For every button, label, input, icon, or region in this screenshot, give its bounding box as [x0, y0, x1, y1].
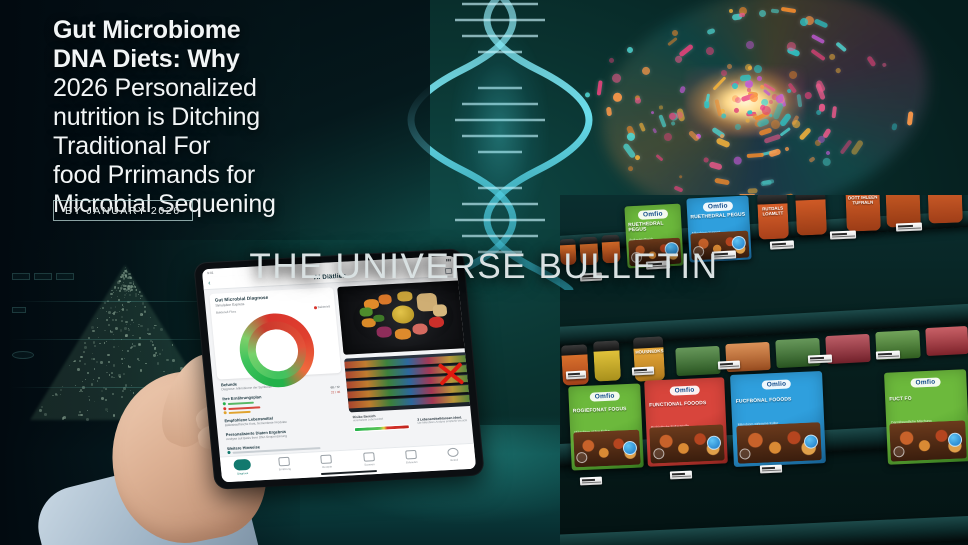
product-package[interactable]: OmfioFUNCTIONAL FOOODSProbiotische Balla… [644, 377, 728, 466]
product-jar[interactable] [927, 195, 963, 224]
pyramid-particle [152, 344, 154, 346]
nav-label: Rezepte [308, 464, 346, 469]
pyramid-particle [108, 324, 110, 326]
headline-line: DNA Diets: Why [53, 45, 413, 74]
product-brand: Omlio [762, 380, 792, 390]
article-headline: Gut Microbiome DNA Diets: Why 2026 Perso… [53, 16, 413, 219]
pyramid-particle [118, 346, 119, 347]
pyramid-particle [87, 410, 88, 411]
pyramid-particle [113, 414, 116, 417]
legend-right: Bakteriell [314, 304, 331, 309]
microbe-particle [753, 65, 761, 73]
pyramid-particle [153, 354, 155, 356]
product-tray[interactable] [925, 326, 968, 356]
risk-progress-bar [354, 424, 410, 432]
dna-glow [430, 0, 570, 280]
legend-color-swatch [314, 306, 317, 309]
microbe-particle [606, 107, 613, 116]
pyramid-particle [123, 373, 125, 375]
pyramid-particle [98, 337, 99, 338]
microbe-particle [729, 9, 734, 14]
pyramid-particle [94, 345, 96, 347]
pyramid-particle [154, 347, 156, 349]
pyramid-particle [100, 361, 102, 363]
food-icon [279, 351, 286, 356]
pyramid-particle [91, 326, 94, 329]
product-brand: Omfio [590, 391, 620, 401]
shelf-price-tag [670, 471, 692, 480]
pyramid-particle [129, 294, 131, 296]
jar-body [593, 350, 621, 382]
pyramid-particle [117, 296, 118, 297]
legend-label: Bakteriell [317, 304, 330, 309]
product-package[interactable]: OmlioFUCFBONAL FOOODSMikrobiom wirksame … [730, 371, 826, 467]
nav-item-diagnose[interactable]: Diagnose [222, 458, 262, 475]
microbe-particle [748, 187, 758, 193]
food-icon [267, 351, 274, 356]
pyramid-particle [97, 327, 98, 328]
product-package[interactable]: OmfioROGIEFONAT FOGUSMikrobiom aktive Ku… [568, 383, 644, 470]
pyramid-particle [52, 395, 54, 397]
nav-item-ernahrung[interactable]: Ernährung [265, 456, 304, 471]
pyramid-particle [84, 346, 87, 349]
headline-line: nutrition is Ditching [53, 103, 413, 132]
food-portion [378, 294, 391, 304]
nav-item-scannen[interactable]: Scannen [349, 451, 388, 466]
pyramid-particle [109, 317, 110, 318]
microbe-particle [635, 98, 641, 104]
meal-plate-photo [337, 280, 469, 355]
cart-icon [405, 450, 417, 460]
pyramid-particle [94, 401, 95, 402]
legend-left: Bakteriell Flora [216, 310, 236, 315]
jar-body [928, 195, 963, 224]
pyramid-particle [133, 345, 135, 347]
microbe-particle [768, 100, 773, 105]
product-title: FUCFBONAL FOOODS [736, 396, 819, 405]
pyramid-particle [104, 330, 105, 331]
pyramid-particle [108, 311, 111, 314]
risk-score-value: 22 / 45 [331, 390, 341, 394]
product-brand: Omfio [910, 378, 940, 388]
pyramid-particle [131, 346, 133, 348]
market-warning: 3 Lebensmittelklassen ident. Die Mikrobi… [417, 415, 476, 426]
product-title: FUNCTIONAL FOOODS [649, 401, 721, 410]
pyramid-particle [130, 289, 132, 291]
pyramid-particle [77, 368, 80, 371]
pyramid-particle [119, 290, 120, 291]
pyramid-particle [80, 356, 82, 358]
pyramid-particle [93, 358, 95, 360]
nav-item-einkaufen[interactable]: Einkaufen [392, 449, 431, 464]
dashboard-icon [233, 459, 251, 471]
product-title: FUCT FO [889, 394, 963, 403]
pyramid-particle [142, 302, 144, 304]
pyramid-particle [94, 368, 95, 369]
pyramid-particle [138, 326, 139, 327]
jar-label: RUTDALS LOAMLTT [759, 206, 786, 217]
pyramid-particle [124, 297, 125, 298]
pyramid-particle [84, 363, 86, 365]
tray-film [825, 334, 870, 364]
pyramid-particle [163, 371, 164, 372]
pyramid-particle [160, 328, 163, 331]
tray-film [675, 346, 720, 376]
publication-banner: THE UNIVERSE BULLETIN [0, 247, 968, 287]
tablet-screen[interactable]: 9:41 ▮▮▮ ‹ AI Diätlien Gut Microbial Dia… [202, 256, 476, 483]
product-title: RUETHEDRAL PEGUS [690, 213, 746, 222]
hero-graphic: OmfioRUETHEDRAL PEGUSBallaststoffreichOm… [0, 0, 968, 545]
shelf-price-tag [876, 350, 900, 359]
pyramid-particle [82, 381, 83, 382]
product-tray[interactable] [775, 338, 820, 368]
microbe-particle [612, 92, 621, 101]
donut-inner-ring [245, 320, 308, 381]
tray-film [775, 338, 820, 368]
shelf-price-tag [896, 222, 922, 231]
product-seal-icon [653, 448, 664, 459]
pyramid-particle [121, 396, 123, 398]
pyramid-particle [111, 376, 112, 377]
microbe-particle [819, 103, 825, 111]
pyramid-particle [106, 311, 107, 312]
product-brand: Omfio [703, 201, 733, 212]
pyramid-particle [113, 346, 115, 348]
pyramid-particle [124, 327, 126, 329]
pyramid-particle [140, 369, 142, 371]
nav-label: Verlauf [435, 457, 473, 462]
pyramid-particle [148, 333, 151, 336]
pyramid-particle [142, 314, 143, 315]
food-portion [359, 308, 372, 317]
food-portion [433, 304, 448, 317]
pyramid-particle [140, 295, 143, 298]
food-icon [272, 335, 278, 340]
pyramid-particle [135, 293, 137, 295]
pyramid-particle [137, 358, 139, 360]
pyramid-particle [166, 359, 169, 362]
product-jar[interactable] [561, 344, 589, 385]
market-caption: Risiko Bereich verarbeitete Lebensmittel [352, 412, 411, 422]
hud-chip [12, 307, 26, 313]
shelf-price-tag [760, 465, 782, 474]
product-jar[interactable]: DOTT IHLEEN TUFRALN [845, 195, 881, 232]
nav-label: Diagnose [224, 471, 262, 476]
pyramid-particle [122, 363, 123, 364]
shelf-price-tag [580, 477, 602, 486]
pyramid-particle [44, 413, 47, 416]
product-title: RUETHEDRAL PEGUS [628, 220, 679, 234]
shelf-price-tag [566, 370, 586, 379]
tray-film [925, 326, 968, 356]
nav-item-verlauf[interactable]: Verlauf [434, 447, 473, 462]
product-package[interactable]: OmfioFUCT FODarmfreundliche Mischung [884, 369, 968, 464]
product-jar[interactable]: RUTDALS LOAMLTT [757, 195, 789, 240]
headline-line: food Prrimands for [53, 161, 413, 190]
jar-body [795, 199, 826, 235]
pyramid-particle [101, 397, 104, 400]
pyramid-particle [162, 349, 163, 350]
pyramid-particle [98, 377, 100, 379]
food-icon [281, 341, 287, 346]
pyramid-particle [145, 363, 147, 365]
pyramid-particle [133, 322, 134, 323]
microbe-particle [608, 57, 615, 64]
report-card: Gut Microbial Diagnose Simulation Expres… [209, 287, 341, 379]
product-brand: Omfio [670, 385, 700, 395]
jar-label: DOTT IHLEEN TUFRALN [848, 195, 878, 206]
pyramid-particle [121, 287, 123, 289]
shelf-price-tag [808, 354, 832, 363]
shelf-price-tag [718, 360, 740, 369]
microbe-particle [771, 8, 779, 12]
product-jar[interactable] [593, 340, 621, 381]
pyramid-particle [121, 320, 123, 322]
score-dot-green [223, 402, 226, 405]
report-sections: Befunde Diagnose: Mikrobiome der Symbios… [221, 376, 348, 454]
pyramid-particle [159, 353, 161, 355]
camera-icon [363, 452, 375, 462]
hint-dot [227, 451, 230, 454]
microbe-particle [756, 75, 762, 81]
product-title: ROGIEFONAT FOGUS [573, 406, 638, 414]
food-portion [394, 328, 411, 340]
product-jar[interactable] [795, 195, 827, 236]
food-portion [397, 291, 413, 301]
pyramid-particle [75, 385, 76, 386]
pyramid-particle [111, 372, 113, 374]
pyramid-particle [115, 306, 116, 307]
pyramid-particle [109, 374, 110, 375]
headline-line: Traditional For [53, 132, 413, 161]
product-seal-icon [893, 446, 904, 457]
score-dot-red [223, 407, 226, 410]
pyramid-particle [115, 327, 118, 330]
pyramid-particle [104, 342, 105, 343]
pyramid-particle [111, 297, 112, 298]
product-tray[interactable] [675, 346, 720, 376]
pyramid-particle [113, 312, 115, 314]
pyramid-particle [106, 319, 108, 321]
pyramid-particle [116, 312, 117, 313]
headline-line: 2026 Personalized [53, 74, 413, 103]
gut-score-value: 68 / 72 [330, 385, 340, 389]
pyramid-particle [113, 292, 114, 293]
nav-item-rezepte[interactable]: Rezepte [307, 454, 346, 469]
pyramid-particle [105, 388, 107, 390]
headline-line: Gut Microbiome [53, 16, 413, 45]
microbe-particle [747, 152, 764, 158]
section-item: Ihre Ernährungsplan 68 / 72 22 / 45 [222, 389, 344, 414]
pyramid-particle [60, 389, 62, 391]
nav-label: Einkaufen [393, 460, 431, 465]
product-tray[interactable] [825, 334, 870, 364]
shelf-price-tag [632, 366, 654, 375]
pyramid-particle [138, 343, 141, 346]
pyramid-particle [147, 328, 149, 330]
list-icon [278, 457, 290, 467]
pyramid-particle [113, 377, 115, 379]
pyramid-particle [86, 418, 89, 421]
shelf-price-tag [830, 230, 856, 239]
red-x-icon [435, 358, 468, 389]
supermarket-photo [344, 352, 475, 413]
nav-label: Ernährung [266, 466, 304, 471]
pyramid-particle [120, 329, 123, 332]
pyramid-particle [157, 362, 159, 364]
pyramid-particle [131, 319, 133, 321]
pyramid-particle [79, 360, 81, 362]
pyramid-particle [128, 291, 129, 292]
pyramid-particle [150, 317, 151, 318]
pyramid-particle [93, 341, 95, 343]
book-icon [320, 454, 332, 464]
food-icon [262, 338, 269, 343]
pyramid-particle [91, 383, 93, 385]
clock-icon [447, 448, 459, 458]
microbe-particle [740, 74, 751, 81]
food-portion [412, 323, 428, 335]
nav-label: Scannen [350, 462, 388, 467]
pyramid-particle [157, 355, 158, 356]
pyramid-particle [125, 334, 128, 337]
product-brand: Omfio [638, 209, 668, 220]
home-indicator [321, 470, 377, 475]
pyramid-particle [39, 409, 42, 412]
food-portion [373, 314, 385, 321]
hud-chip [12, 351, 34, 359]
score-dot-amber [224, 411, 227, 414]
byline-badge: BY JANUARY 2026 [53, 200, 193, 221]
